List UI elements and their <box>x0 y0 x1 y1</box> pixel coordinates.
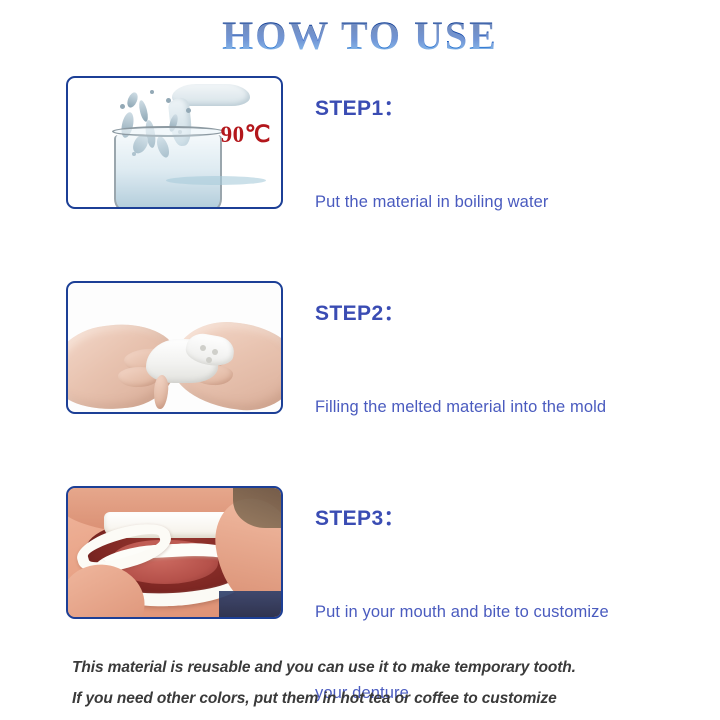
how-to-use-infographic: HOW TO USE <box>0 0 720 720</box>
footer-line-1: This material is reusable and you can us… <box>72 652 682 683</box>
step-2-description-line-1: Filling the melted material into the mol… <box>315 394 720 421</box>
temperature-badge: 90℃ <box>221 122 271 148</box>
step-1-text: STEP1： Put the material in boiling water <box>283 76 720 270</box>
step-2-description: Filling the melted material into the mol… <box>315 340 720 475</box>
boiling-water-glass-photo: 90℃ <box>68 78 281 207</box>
step-3-description-line-1: Put in your mouth and bite to customize <box>315 599 720 626</box>
step-1-image-panel: 90℃ <box>66 76 283 209</box>
footer-line-2: If you need other colors, put them in ho… <box>72 683 682 714</box>
step-1-description: Put the material in boiling water <box>315 135 720 270</box>
step-3-heading: STEP3： <box>315 506 720 532</box>
title-container: HOW TO USE <box>0 12 720 60</box>
step-row-2: STEP2： Filling the melted material into … <box>0 281 720 475</box>
step-2-image-panel <box>66 281 283 414</box>
water-glass <box>114 135 222 207</box>
page-title: HOW TO USE <box>222 12 498 60</box>
step-1-description-line-1: Put the material in boiling water <box>315 189 720 216</box>
hands-holding-mold-photo <box>68 283 281 412</box>
steps-list: 90℃ STEP1： Put the material in boiling w… <box>0 76 720 720</box>
background-clothing <box>219 591 281 617</box>
step-3-image-panel <box>66 486 283 619</box>
footer-note: This material is reusable and you can us… <box>72 652 682 714</box>
step-2-text: STEP2： Filling the melted material into … <box>283 281 720 475</box>
mouth-fitting-denture-photo <box>68 488 281 617</box>
step-2-heading: STEP2： <box>315 301 720 327</box>
step-1-heading: STEP1： <box>315 96 720 122</box>
step-row-1: 90℃ STEP1： Put the material in boiling w… <box>0 76 720 270</box>
